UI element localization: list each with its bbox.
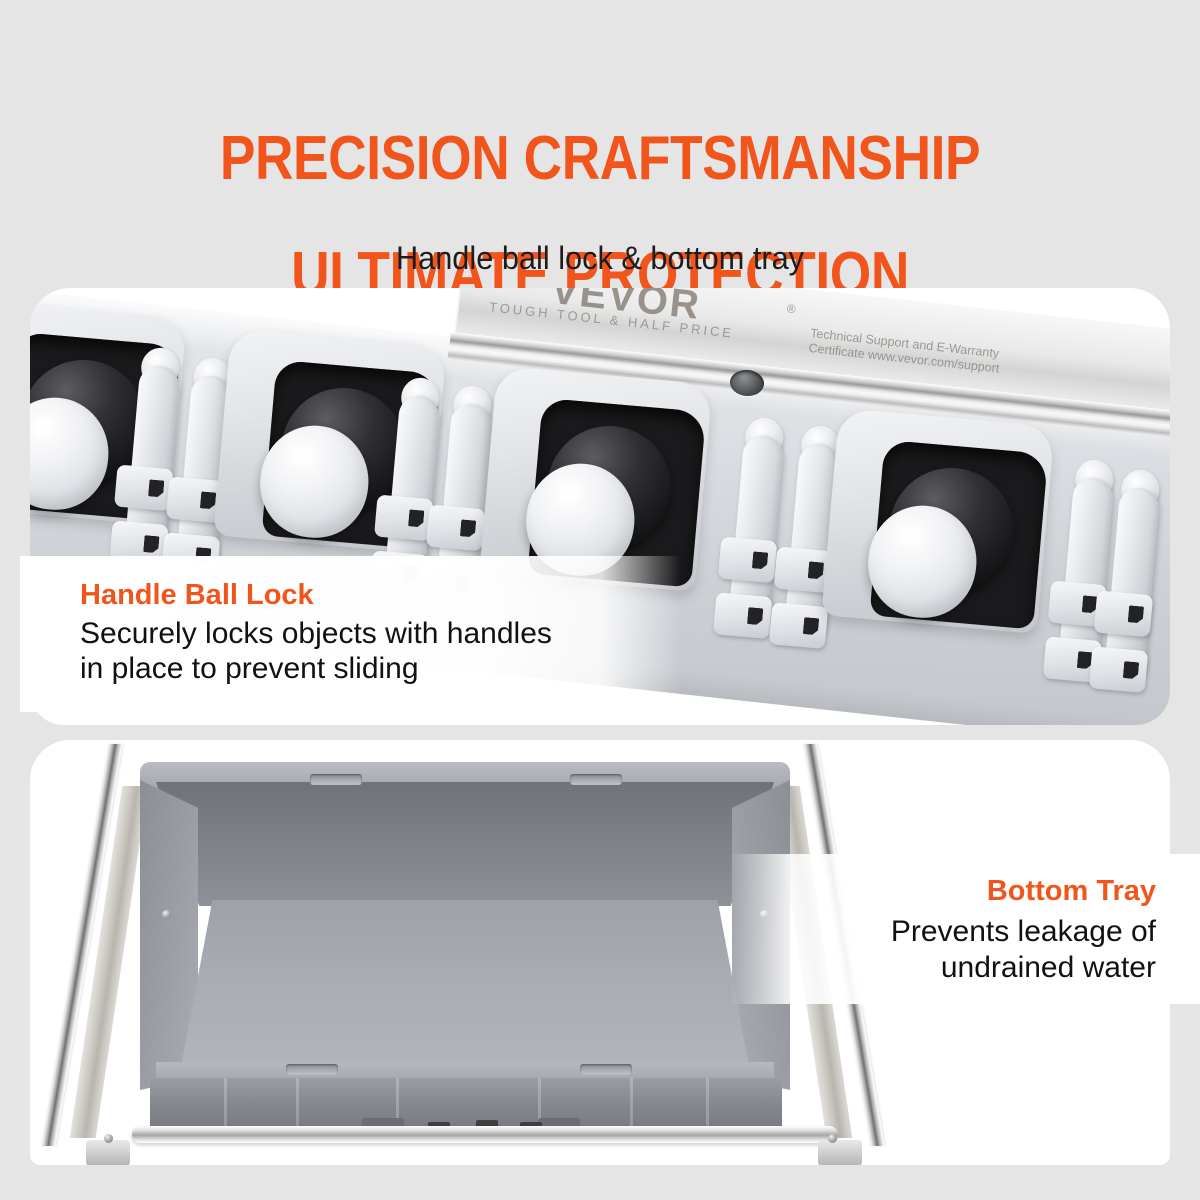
registered-mark: ® xyxy=(786,301,796,316)
foot-screw-left xyxy=(104,1134,113,1143)
callout-handle-ball-lock: Handle Ball Lock Securely locks objects … xyxy=(80,578,552,686)
callout-bottom-tray: Bottom Tray Prevents leakage of undraine… xyxy=(891,874,1156,986)
tray-floor xyxy=(178,900,752,1082)
callout-body: Prevents leakage of undrained water xyxy=(891,914,1156,986)
frame-crossbar xyxy=(132,1126,838,1143)
tray-interior-back-wall xyxy=(156,782,774,906)
hook-tab-upper xyxy=(1094,590,1153,637)
callout-title: Handle Ball Lock xyxy=(80,578,552,612)
bottom-tray xyxy=(140,762,790,1092)
hook-tab-lower xyxy=(769,602,828,649)
callout-body-line-2: undrained water xyxy=(891,950,1156,986)
tray-rim-slot-top-left xyxy=(310,774,362,785)
tray-screw-left xyxy=(162,910,171,919)
hook-tab-lower xyxy=(713,592,772,639)
callout-body-line-2: in place to prevent sliding xyxy=(80,651,552,686)
hook-tab-upper xyxy=(374,494,433,541)
foot-screw-right xyxy=(828,1134,837,1143)
hook-tab-upper xyxy=(426,504,485,551)
callout-body-line-1: Securely locks objects with handles xyxy=(80,616,552,651)
tray-rim-slot-top-right xyxy=(570,774,622,785)
frame-foot-left xyxy=(86,1140,130,1165)
tray-rim-slot-front-left xyxy=(286,1064,338,1075)
frame-foot-right xyxy=(818,1140,862,1165)
hook-tab-lower xyxy=(1089,646,1148,693)
hook-tab-upper xyxy=(114,464,173,511)
callout-title: Bottom Tray xyxy=(891,874,1156,908)
subtitle: Handle ball lock & bottom tray xyxy=(24,240,1176,277)
callout-body-line-1: Prevents leakage of xyxy=(891,914,1156,950)
callout-body: Securely locks objects with handles in p… xyxy=(80,616,552,686)
hook-tab-upper xyxy=(718,536,777,583)
tray-rim-slot-front-right xyxy=(580,1064,632,1075)
panel-divider xyxy=(30,725,1170,740)
headline-line-1: PRECISION CRAFTSMANSHIP xyxy=(84,130,1116,188)
